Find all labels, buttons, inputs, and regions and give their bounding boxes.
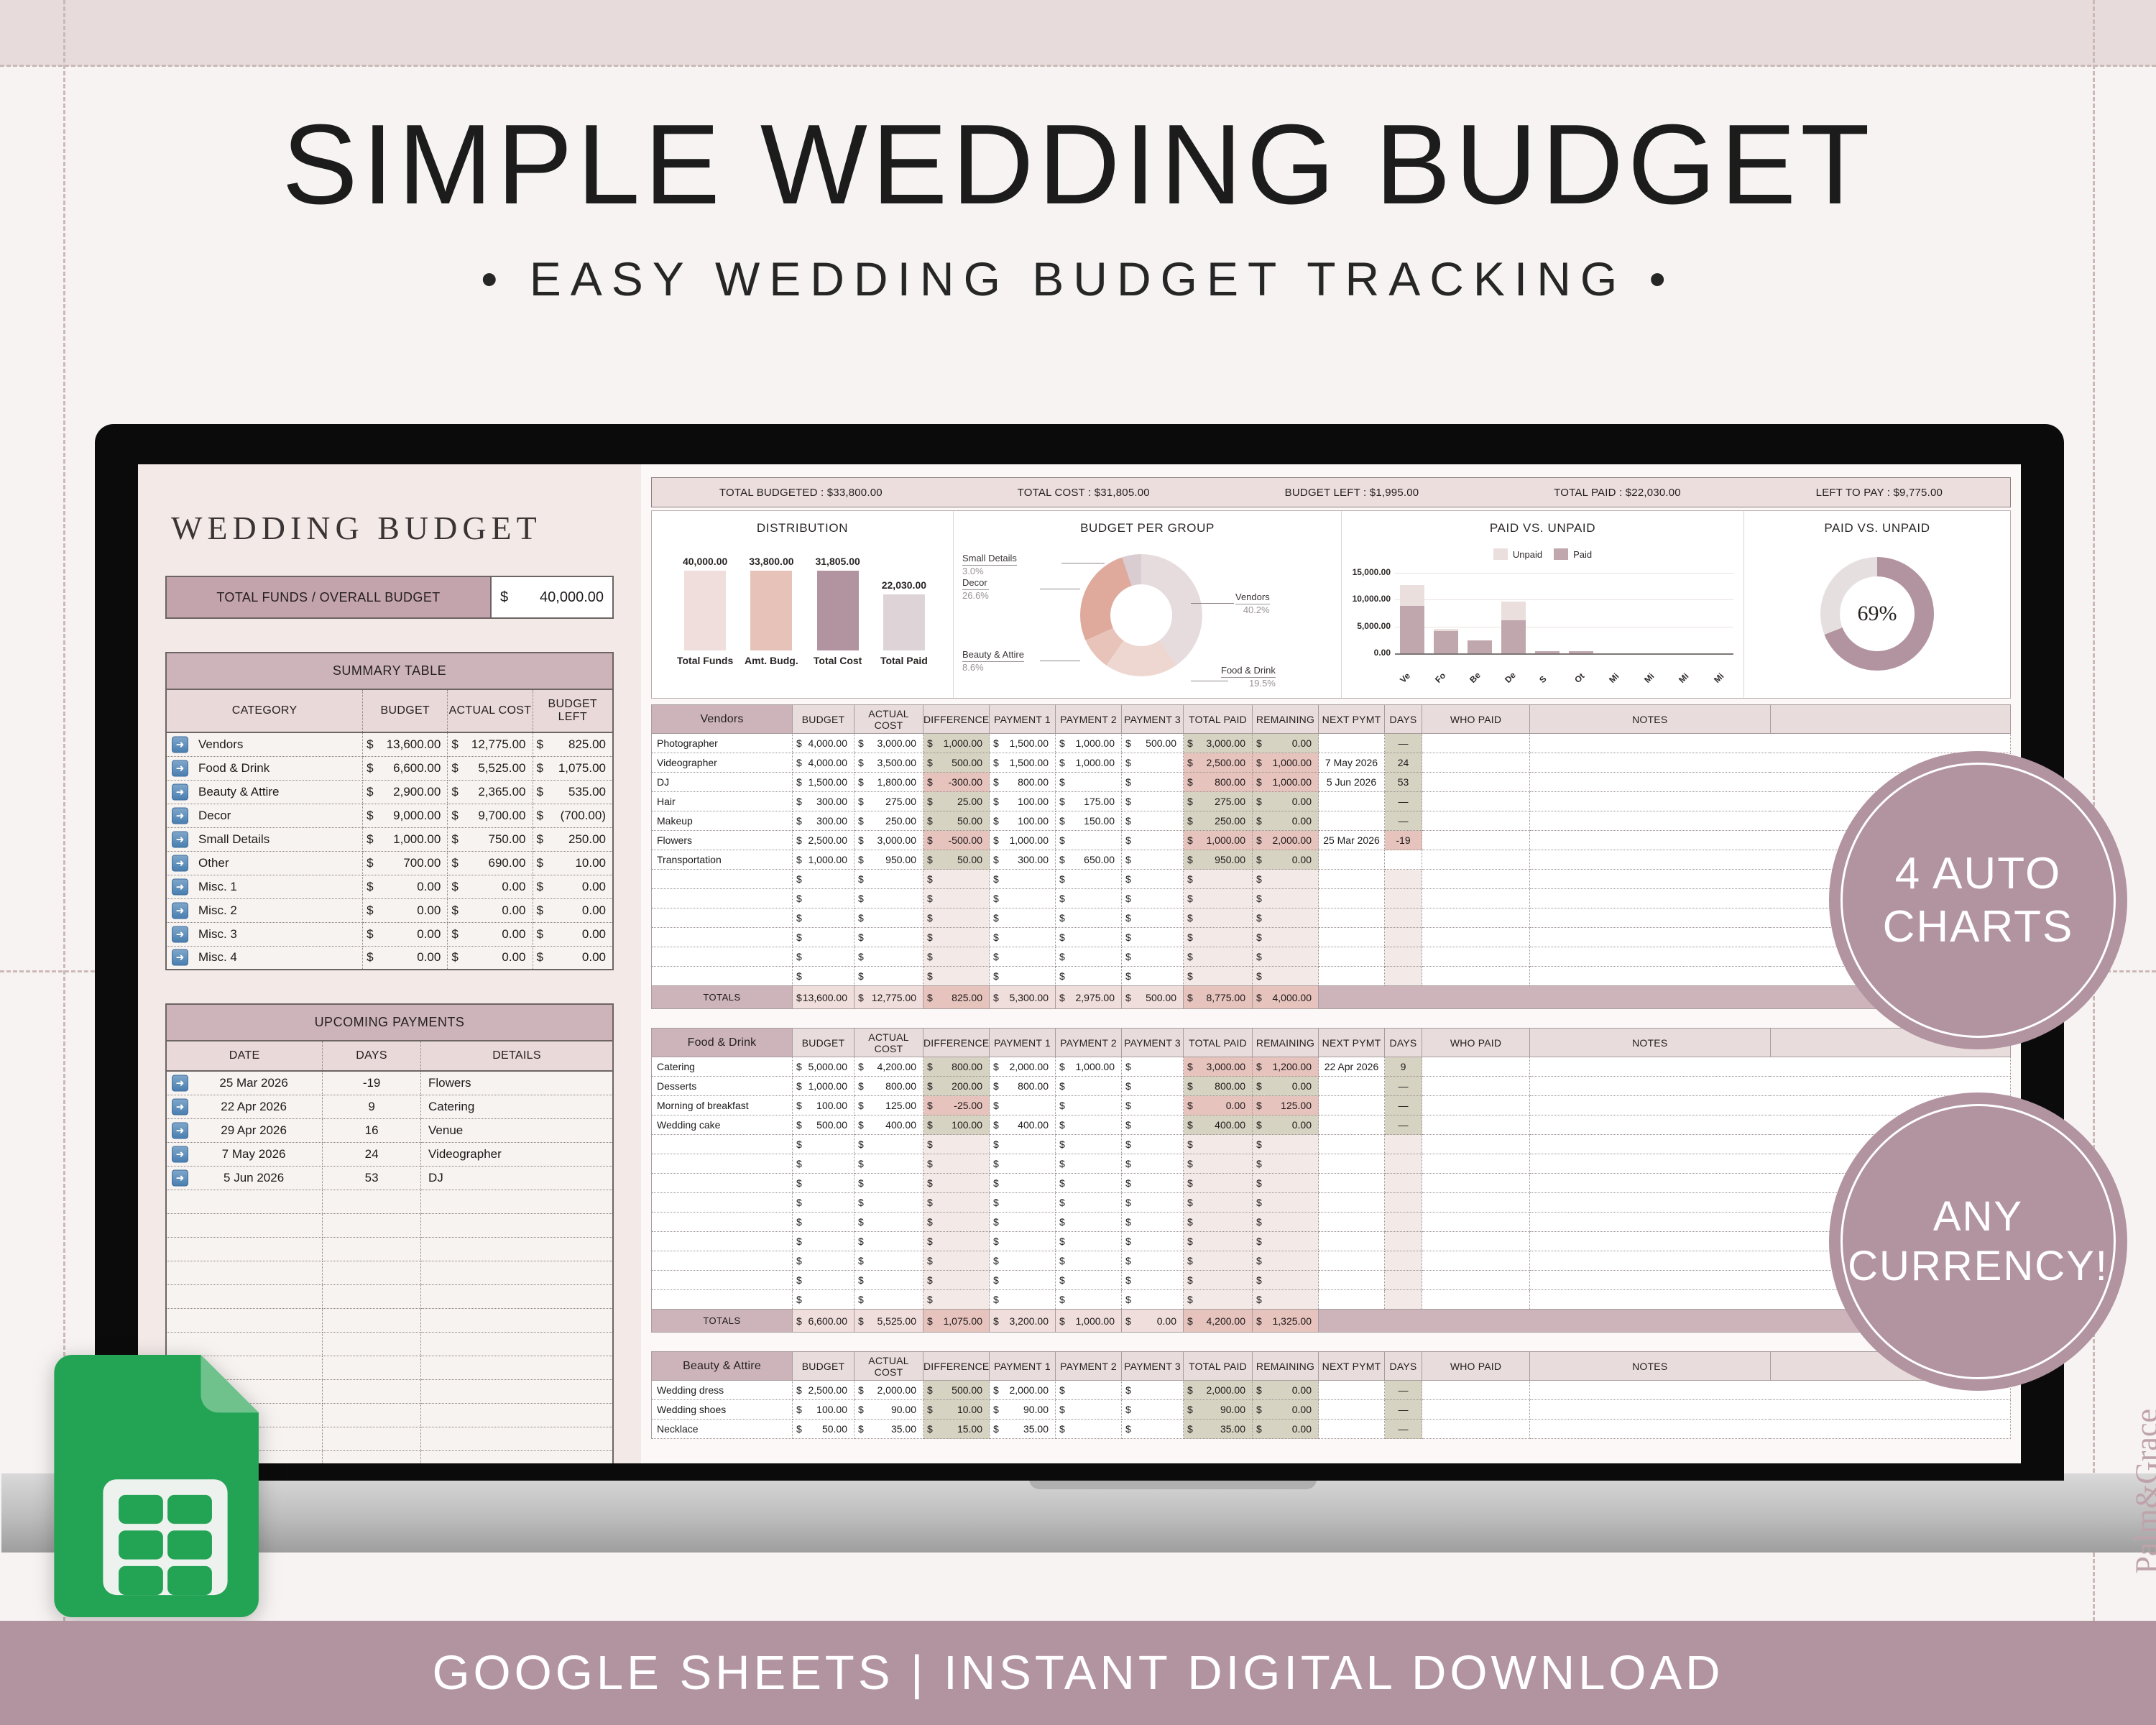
empty-cell[interactable]: $ [1184, 1251, 1253, 1271]
row-remaining[interactable]: $125.00 [1253, 1096, 1319, 1115]
row-remaining[interactable]: $0.00 [1253, 1400, 1319, 1420]
goto-arrow-icon[interactable]: ➜ [172, 878, 188, 895]
legend-item[interactable]: Unpaid [1493, 548, 1542, 560]
row-notes[interactable] [1530, 1077, 2011, 1096]
empty-cell[interactable]: $ [990, 1213, 1056, 1232]
empty-cell[interactable] [1422, 1135, 1530, 1154]
row-next-payment[interactable]: 5 Jun 2026 [1319, 773, 1385, 792]
row-actual[interactable]: $35.00 [854, 1420, 923, 1439]
table-row[interactable]: Flowers$2,500.00$3,000.00$-500.00$1,000.… [652, 831, 2011, 850]
row-payment-2[interactable]: $1,000.00 [1056, 753, 1122, 773]
empty-cell[interactable] [323, 1308, 421, 1332]
empty-cell[interactable]: $ [793, 908, 854, 928]
upcoming-row-empty[interactable] [166, 1308, 613, 1332]
row-payment-1[interactable]: $ [990, 1096, 1056, 1115]
row-payment-2[interactable]: $ [1056, 773, 1122, 792]
empty-cell[interactable] [1422, 1271, 1530, 1290]
row-next-payment[interactable] [1319, 1381, 1385, 1400]
row-remaining[interactable]: $0.00 [1253, 792, 1319, 811]
empty-cell[interactable]: $ [1253, 908, 1319, 928]
row-remaining[interactable]: $2,000.00 [1253, 831, 1319, 850]
empty-cell[interactable]: $ [793, 1290, 854, 1310]
empty-cell[interactable]: $ [1253, 947, 1319, 967]
empty-cell[interactable]: $ [1056, 1213, 1122, 1232]
row-next-payment[interactable] [1319, 1400, 1385, 1420]
empty-cell[interactable]: $ [923, 1213, 990, 1232]
row-remaining[interactable]: $0.00 [1253, 811, 1319, 831]
chart-paid-vs-unpaid-bars[interactable]: PAID VS. UNPAID UnpaidPaid 0.005,000.001… [1342, 511, 1744, 698]
empty-cell[interactable]: $ [923, 1135, 990, 1154]
row-item-name[interactable]: Wedding dress [652, 1381, 793, 1400]
empty-cell[interactable] [323, 1332, 421, 1356]
empty-cell[interactable]: $ [1056, 889, 1122, 908]
row-budget[interactable]: $100.00 [793, 1096, 854, 1115]
goto-arrow-icon[interactable]: ➜ [172, 1122, 188, 1138]
goto-arrow-icon[interactable]: ➜ [172, 736, 188, 753]
row-total-paid[interactable]: $1,000.00 [1184, 831, 1253, 850]
empty-cell[interactable]: $ [854, 1154, 923, 1174]
table-row[interactable]: Wedding shoes$100.00$90.00$10.00$90.00$$… [652, 1400, 2011, 1420]
row-total-paid[interactable]: $3,000.00 [1184, 734, 1253, 753]
row-payment-1[interactable]: $800.00 [990, 1077, 1056, 1096]
row-payment-3[interactable]: $ [1122, 773, 1184, 792]
table-row[interactable]: Desserts$1,000.00$800.00$200.00$800.00$$… [652, 1077, 2011, 1096]
stacked-bar[interactable] [1603, 573, 1627, 653]
row-payment-3[interactable]: $ [1122, 1057, 1184, 1077]
row-item-name[interactable]: Necklace [652, 1420, 793, 1439]
empty-cell[interactable]: $ [793, 1174, 854, 1193]
row-payment-3[interactable]: $ [1122, 831, 1184, 850]
goto-arrow-icon[interactable]: ➜ [172, 902, 188, 919]
row-who-paid[interactable] [1422, 1096, 1530, 1115]
empty-cell[interactable]: $ [990, 1290, 1056, 1310]
empty-cell[interactable]: $ [1056, 1232, 1122, 1251]
empty-cell[interactable]: $ [793, 1154, 854, 1174]
upcoming-row[interactable]: ➜22 Apr 20269Catering [166, 1095, 613, 1118]
row-payment-2[interactable]: $ [1056, 1096, 1122, 1115]
table-row[interactable]: Videographer$4,000.00$3,500.00$500.00$1,… [652, 753, 2011, 773]
goto-arrow-icon[interactable]: ➜ [172, 783, 188, 800]
upcoming-row-empty[interactable] [166, 1237, 613, 1261]
empty-cell[interactable]: $ [1184, 1290, 1253, 1310]
row-total-paid[interactable]: $800.00 [1184, 773, 1253, 792]
empty-cell[interactable] [1422, 1290, 1530, 1310]
empty-cell[interactable]: $ [990, 1271, 1056, 1290]
row-actual[interactable]: $3,000.00 [854, 734, 923, 753]
upcoming-row[interactable]: ➜5 Jun 202653DJ [166, 1166, 613, 1190]
empty-cell[interactable] [1319, 1251, 1385, 1271]
empty-cell[interactable] [323, 1261, 421, 1284]
goto-arrow-icon[interactable]: ➜ [172, 807, 188, 824]
empty-cell[interactable] [421, 1308, 613, 1332]
empty-cell[interactable]: $ [923, 1154, 990, 1174]
table-row-empty[interactable]: $$$$$$$$ [652, 1271, 2011, 1290]
empty-cell[interactable]: $ [793, 1251, 854, 1271]
empty-cell[interactable]: $ [1056, 1251, 1122, 1271]
table-row-empty[interactable]: $$$$$$$$ [652, 1251, 2011, 1271]
row-payment-2[interactable]: $ [1056, 1381, 1122, 1400]
empty-cell[interactable] [1319, 928, 1385, 947]
empty-cell[interactable] [421, 1356, 613, 1379]
empty-cell[interactable]: $ [854, 1193, 923, 1213]
summary-row[interactable]: ➜Food & Drink$6,600.00$5,525.00$1,075.00 [166, 756, 613, 780]
table-row-empty[interactable]: $$$$$$$$ [652, 1290, 2011, 1310]
donut-ring[interactable] [1080, 554, 1202, 676]
row-next-payment[interactable]: 25 Mar 2026 [1319, 831, 1385, 850]
table-row-empty[interactable]: $$$$$$$$ [652, 1232, 2011, 1251]
table-row[interactable]: DJ$1,500.00$1,800.00$-300.00$800.00$$$80… [652, 773, 2011, 792]
empty-cell[interactable]: $ [1056, 1174, 1122, 1193]
empty-cell[interactable]: $ [1253, 967, 1319, 986]
empty-cell[interactable]: $ [854, 1271, 923, 1290]
table-row[interactable]: Wedding cake$500.00$400.00$100.00$400.00… [652, 1115, 2011, 1135]
distribution-bar[interactable]: 40,000.00Total Funds [684, 556, 726, 673]
empty-cell[interactable] [421, 1190, 613, 1213]
row-next-payment[interactable]: 22 Apr 2026 [1319, 1057, 1385, 1077]
empty-cell[interactable]: $ [990, 889, 1056, 908]
chart-budget-per-group[interactable]: BUDGET PER GROUP Vendors40.2%Food & Drin… [954, 511, 1342, 698]
empty-cell[interactable]: $ [923, 1290, 990, 1310]
empty-cell[interactable]: $ [1056, 1193, 1122, 1213]
row-who-paid[interactable] [1422, 831, 1530, 850]
empty-cell[interactable]: $ [923, 1232, 990, 1251]
row-payment-1[interactable]: $2,000.00 [990, 1057, 1056, 1077]
stacked-bar[interactable] [1400, 573, 1424, 653]
row-payment-2[interactable]: $ [1056, 1115, 1122, 1135]
empty-cell[interactable]: $ [1184, 908, 1253, 928]
summary-row[interactable]: ➜Misc. 3$0.00$0.00$0.00 [166, 922, 613, 946]
empty-cell[interactable] [1319, 1271, 1385, 1290]
row-item-name[interactable]: Makeup [652, 811, 793, 831]
empty-cell[interactable] [1319, 967, 1385, 986]
empty-cell[interactable]: $ [1122, 1290, 1184, 1310]
empty-cell[interactable]: $ [1184, 1154, 1253, 1174]
row-total-paid[interactable]: $250.00 [1184, 811, 1253, 831]
empty-cell[interactable]: $ [1184, 1193, 1253, 1213]
row-who-paid[interactable] [1422, 1400, 1530, 1420]
row-notes[interactable] [1530, 1400, 2011, 1420]
empty-cell[interactable]: $ [1122, 870, 1184, 889]
row-actual[interactable]: $1,800.00 [854, 773, 923, 792]
empty-cell[interactable] [1319, 889, 1385, 908]
row-payment-3[interactable]: $ [1122, 1115, 1184, 1135]
empty-cell[interactable]: $ [990, 1232, 1056, 1251]
table-row-empty[interactable]: $$$$$$$$ [652, 1174, 2011, 1193]
empty-cell[interactable] [1422, 928, 1530, 947]
row-total-paid[interactable]: $3,000.00 [1184, 1057, 1253, 1077]
row-item-name[interactable]: Transportation [652, 850, 793, 870]
empty-cell[interactable]: $ [1184, 928, 1253, 947]
row-next-payment[interactable] [1319, 1115, 1385, 1135]
row-budget[interactable]: $300.00 [793, 792, 854, 811]
empty-cell[interactable]: $ [1253, 1232, 1319, 1251]
summary-row[interactable]: ➜Small Details$1,000.00$750.00$250.00 [166, 827, 613, 851]
row-remaining[interactable]: $1,200.00 [1253, 1057, 1319, 1077]
row-payment-2[interactable]: $ [1056, 831, 1122, 850]
distribution-bar[interactable]: 33,800.00Amt. Budg. [750, 556, 792, 673]
empty-cell[interactable]: $ [923, 967, 990, 986]
row-total-paid[interactable]: $400.00 [1184, 1115, 1253, 1135]
row-budget[interactable]: $2,500.00 [793, 831, 854, 850]
empty-cell[interactable] [1319, 1232, 1385, 1251]
row-who-paid[interactable] [1422, 1420, 1530, 1439]
table-row[interactable]: Morning of breakfast$100.00$125.00$-25.0… [652, 1096, 2011, 1115]
empty-cell[interactable] [1422, 967, 1530, 986]
row-payment-2[interactable]: $1,000.00 [1056, 734, 1122, 753]
row-who-paid[interactable] [1422, 1057, 1530, 1077]
empty-cell[interactable]: $ [923, 947, 990, 967]
row-difference[interactable]: $1,000.00 [923, 734, 990, 753]
row-notes[interactable] [1530, 1057, 2011, 1077]
row-payment-1[interactable]: $2,000.00 [990, 1381, 1056, 1400]
row-item-name[interactable]: Hair [652, 792, 793, 811]
empty-cell[interactable]: $ [1253, 1174, 1319, 1193]
empty-cell[interactable]: $ [923, 1174, 990, 1193]
empty-cell[interactable]: $ [1253, 1135, 1319, 1154]
row-payment-3[interactable]: $ [1122, 1096, 1184, 1115]
row-payment-3[interactable]: $ [1122, 1077, 1184, 1096]
empty-cell[interactable] [1422, 1251, 1530, 1271]
row-budget[interactable]: $4,000.00 [793, 753, 854, 773]
summary-row[interactable]: ➜Misc. 4$0.00$0.00$0.00 [166, 946, 613, 970]
row-budget[interactable]: $500.00 [793, 1115, 854, 1135]
row-budget[interactable]: $300.00 [793, 811, 854, 831]
row-actual[interactable]: $4,200.00 [854, 1057, 923, 1077]
empty-cell[interactable]: $ [854, 889, 923, 908]
row-actual[interactable]: $400.00 [854, 1115, 923, 1135]
row-who-paid[interactable] [1422, 773, 1530, 792]
row-budget[interactable]: $5,000.00 [793, 1057, 854, 1077]
row-total-paid[interactable]: $2,000.00 [1184, 1381, 1253, 1400]
goto-arrow-icon[interactable]: ➜ [172, 926, 188, 942]
row-actual[interactable]: $3,500.00 [854, 753, 923, 773]
empty-cell[interactable] [421, 1237, 613, 1261]
row-budget[interactable]: $1,000.00 [793, 1077, 854, 1096]
table-row-empty[interactable]: $$$$$$$$ [652, 908, 2011, 928]
empty-cell[interactable]: $ [854, 908, 923, 928]
goto-arrow-icon[interactable]: ➜ [172, 831, 188, 847]
row-remaining[interactable]: $0.00 [1253, 734, 1319, 753]
empty-cell[interactable]: $ [854, 1232, 923, 1251]
empty-cell[interactable]: $ [854, 928, 923, 947]
goto-arrow-icon[interactable]: ➜ [172, 760, 188, 776]
row-who-paid[interactable] [1422, 753, 1530, 773]
row-payment-3[interactable]: $ [1122, 792, 1184, 811]
row-payment-3[interactable]: $ [1122, 1400, 1184, 1420]
row-actual[interactable]: $2,000.00 [854, 1381, 923, 1400]
empty-cell[interactable] [1319, 1213, 1385, 1232]
empty-cell[interactable]: $ [1056, 967, 1122, 986]
stacked-bar[interactable] [1535, 573, 1560, 653]
row-payment-1[interactable]: $100.00 [990, 811, 1056, 831]
empty-cell[interactable]: $ [1184, 967, 1253, 986]
row-payment-1[interactable]: $90.00 [990, 1400, 1056, 1420]
empty-cell[interactable] [421, 1284, 613, 1308]
row-who-paid[interactable] [1422, 734, 1530, 753]
summary-row[interactable]: ➜Misc. 1$0.00$0.00$0.00 [166, 875, 613, 898]
empty-cell[interactable]: $ [923, 889, 990, 908]
empty-cell[interactable]: $ [990, 1135, 1056, 1154]
row-budget[interactable]: $50.00 [793, 1420, 854, 1439]
empty-cell[interactable]: $ [854, 1290, 923, 1310]
empty-cell[interactable]: $ [854, 1135, 923, 1154]
empty-cell[interactable]: $ [1056, 870, 1122, 889]
empty-cell[interactable]: $ [854, 947, 923, 967]
table-row[interactable]: Wedding dress$2,500.00$2,000.00$500.00$2… [652, 1381, 2011, 1400]
row-who-paid[interactable] [1422, 811, 1530, 831]
stacked-bar[interactable] [1501, 573, 1526, 653]
row-next-payment[interactable] [1319, 811, 1385, 831]
empty-cell[interactable] [1319, 1174, 1385, 1193]
empty-cell[interactable] [1422, 1193, 1530, 1213]
empty-cell[interactable] [1422, 870, 1530, 889]
empty-cell[interactable]: $ [1122, 1174, 1184, 1193]
empty-cell[interactable]: $ [854, 1213, 923, 1232]
empty-cell[interactable]: $ [1253, 928, 1319, 947]
table-row-empty[interactable]: $$$$$$$$ [652, 1154, 2011, 1174]
empty-cell[interactable]: $ [1122, 947, 1184, 967]
empty-cell[interactable] [1422, 1154, 1530, 1174]
chart-paid-percent[interactable]: PAID VS. UNPAID 69% [1744, 511, 2010, 698]
row-payment-1[interactable]: $1,500.00 [990, 753, 1056, 773]
empty-cell[interactable]: $ [1122, 1232, 1184, 1251]
empty-cell[interactable] [1319, 947, 1385, 967]
upcoming-row[interactable]: ➜25 Mar 2026-19Flowers [166, 1071, 613, 1095]
distribution-bar[interactable]: 31,805.00Total Cost [817, 556, 859, 673]
empty-cell[interactable]: $ [990, 947, 1056, 967]
empty-cell[interactable]: $ [793, 947, 854, 967]
empty-cell[interactable] [323, 1284, 421, 1308]
row-payment-1[interactable]: $800.00 [990, 773, 1056, 792]
empty-cell[interactable] [1319, 908, 1385, 928]
summary-row[interactable]: ➜Vendors$13,600.00$12,775.00$825.00 [166, 732, 613, 756]
row-actual[interactable]: $250.00 [854, 811, 923, 831]
empty-cell[interactable]: $ [1184, 1135, 1253, 1154]
row-total-paid[interactable]: $35.00 [1184, 1420, 1253, 1439]
empty-cell[interactable]: $ [793, 1271, 854, 1290]
goto-arrow-icon[interactable]: ➜ [172, 949, 188, 966]
empty-cell[interactable]: $ [990, 1193, 1056, 1213]
empty-cell[interactable]: $ [990, 967, 1056, 986]
empty-cell[interactable]: $ [923, 908, 990, 928]
row-difference[interactable]: $100.00 [923, 1115, 990, 1135]
empty-cell[interactable] [323, 1190, 421, 1213]
empty-cell[interactable] [1422, 947, 1530, 967]
upcoming-row-empty[interactable] [166, 1332, 613, 1356]
empty-cell[interactable] [323, 1356, 421, 1379]
row-next-payment[interactable] [1319, 1420, 1385, 1439]
empty-cell[interactable]: $ [793, 1232, 854, 1251]
row-item-name[interactable]: Wedding shoes [652, 1400, 793, 1420]
empty-cell[interactable]: $ [793, 889, 854, 908]
row-who-paid[interactable] [1422, 850, 1530, 870]
row-remaining[interactable]: $0.00 [1253, 1420, 1319, 1439]
table-row-empty[interactable]: $$$$$$$$ [652, 889, 2011, 908]
row-next-payment[interactable] [1319, 734, 1385, 753]
row-difference[interactable]: $-25.00 [923, 1096, 990, 1115]
table-row[interactable]: Photographer$4,000.00$3,000.00$1,000.00$… [652, 734, 2011, 753]
empty-cell[interactable]: $ [1253, 1213, 1319, 1232]
percent-donut-ring[interactable]: 69% [1820, 557, 1934, 671]
upcoming-row-empty[interactable] [166, 1261, 613, 1284]
row-budget[interactable]: $1,500.00 [793, 773, 854, 792]
row-who-paid[interactable] [1422, 792, 1530, 811]
row-item-name[interactable]: DJ [652, 773, 793, 792]
table-row-empty[interactable]: $$$$$$$$ [652, 870, 2011, 889]
summary-row[interactable]: ➜Other$700.00$690.00$10.00 [166, 851, 613, 875]
stacked-bar[interactable] [1636, 573, 1661, 653]
row-who-paid[interactable] [1422, 1077, 1530, 1096]
table-row-empty[interactable]: $$$$$$$$ [652, 1193, 2011, 1213]
row-difference[interactable]: $500.00 [923, 753, 990, 773]
empty-cell[interactable]: $ [1184, 1213, 1253, 1232]
empty-cell[interactable] [1422, 1232, 1530, 1251]
row-actual[interactable]: $90.00 [854, 1400, 923, 1420]
row-payment-2[interactable]: $175.00 [1056, 792, 1122, 811]
summary-row[interactable]: ➜Decor$9,000.00$9,700.00$(700.00) [166, 804, 613, 827]
upcoming-row[interactable]: ➜7 May 202624Videographer [166, 1142, 613, 1166]
row-payment-1[interactable]: $35.00 [990, 1420, 1056, 1439]
goto-arrow-icon[interactable]: ➜ [172, 855, 188, 871]
row-payment-2[interactable]: $150.00 [1056, 811, 1122, 831]
empty-cell[interactable]: $ [854, 1174, 923, 1193]
empty-cell[interactable]: $ [1253, 1290, 1319, 1310]
row-who-paid[interactable] [1422, 1115, 1530, 1135]
empty-cell[interactable]: $ [1253, 1251, 1319, 1271]
table-row[interactable]: Transportation$1,000.00$950.00$50.00$300… [652, 850, 2011, 870]
row-budget[interactable]: $1,000.00 [793, 850, 854, 870]
empty-cell[interactable] [1319, 1290, 1385, 1310]
goto-arrow-icon[interactable]: ➜ [172, 1146, 188, 1162]
goto-arrow-icon[interactable]: ➜ [172, 1098, 188, 1115]
empty-cell[interactable]: $ [990, 928, 1056, 947]
empty-cell[interactable]: $ [1122, 1271, 1184, 1290]
table-row-empty[interactable]: $$$$$$$$ [652, 928, 2011, 947]
empty-cell[interactable]: $ [854, 1251, 923, 1271]
empty-cell[interactable]: $ [1122, 967, 1184, 986]
row-payment-2[interactable]: $1,000.00 [1056, 1057, 1122, 1077]
empty-cell[interactable] [166, 1237, 323, 1261]
table-row-empty[interactable]: $$$$$$$$ [652, 967, 2011, 986]
empty-cell[interactable]: $ [1056, 908, 1122, 928]
stacked-bar[interactable] [1670, 573, 1695, 653]
row-item-name[interactable]: Photographer [652, 734, 793, 753]
row-difference[interactable]: $50.00 [923, 811, 990, 831]
empty-cell[interactable]: $ [1056, 1154, 1122, 1174]
empty-cell[interactable]: $ [793, 1193, 854, 1213]
empty-cell[interactable] [1319, 1154, 1385, 1174]
row-item-name[interactable]: Morning of breakfast [652, 1096, 793, 1115]
empty-cell[interactable]: $ [1184, 870, 1253, 889]
empty-cell[interactable]: $ [1122, 1135, 1184, 1154]
row-notes[interactable] [1530, 1420, 2011, 1439]
empty-cell[interactable]: $ [1253, 1271, 1319, 1290]
row-remaining[interactable]: $0.00 [1253, 1077, 1319, 1096]
row-total-paid[interactable]: $90.00 [1184, 1400, 1253, 1420]
empty-cell[interactable]: $ [1184, 1174, 1253, 1193]
row-payment-1[interactable]: $400.00 [990, 1115, 1056, 1135]
empty-cell[interactable]: $ [923, 870, 990, 889]
empty-cell[interactable] [421, 1213, 613, 1237]
empty-cell[interactable]: $ [1184, 947, 1253, 967]
row-difference[interactable]: $-500.00 [923, 831, 990, 850]
empty-cell[interactable] [421, 1379, 613, 1403]
table-row[interactable]: Catering$5,000.00$4,200.00$800.00$2,000.… [652, 1057, 2011, 1077]
empty-cell[interactable]: $ [854, 870, 923, 889]
row-remaining[interactable]: $0.00 [1253, 1381, 1319, 1400]
empty-cell[interactable]: $ [793, 870, 854, 889]
empty-cell[interactable]: $ [1056, 1271, 1122, 1290]
